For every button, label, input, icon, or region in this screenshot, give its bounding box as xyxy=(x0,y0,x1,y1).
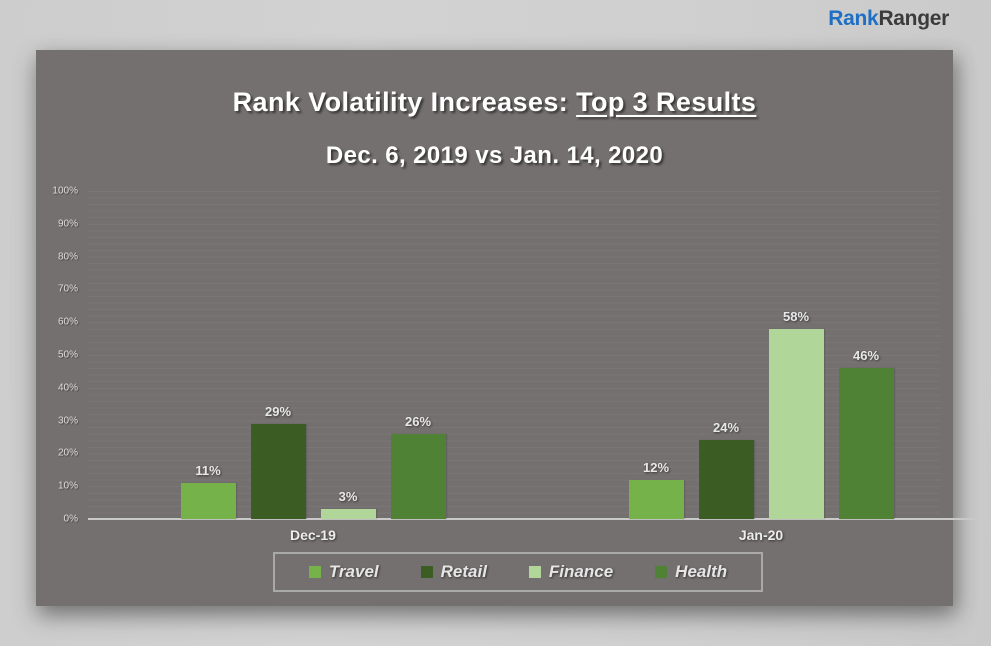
bar-health-dec-19[interactable]: 26% xyxy=(391,191,446,519)
bar-finance-jan-20[interactable]: 58% xyxy=(769,191,824,519)
legend-item-health[interactable]: Health xyxy=(655,562,727,582)
y-axis-tick-label: 100% xyxy=(52,186,78,197)
rankranger-logo: RankRanger xyxy=(828,7,949,31)
bar-value-label: 11% xyxy=(195,463,220,478)
bar-value-label: 12% xyxy=(643,460,669,475)
y-axis-tick-label: 30% xyxy=(58,415,78,426)
bar-rect xyxy=(699,440,754,519)
legend-label: Finance xyxy=(549,562,613,582)
y-axis-tick-label: 90% xyxy=(58,218,78,229)
legend-swatch-icon xyxy=(421,566,433,578)
legend-label: Health xyxy=(675,562,727,582)
bar-rect xyxy=(321,509,376,519)
bar-value-label: 29% xyxy=(265,404,291,419)
legend-swatch-icon xyxy=(529,566,541,578)
y-axis-tick-label: 20% xyxy=(58,448,78,459)
logo-text-rank: Rank xyxy=(828,7,878,30)
legend-label: Travel xyxy=(329,562,379,582)
chart-title-main: Rank Volatility Increases: xyxy=(233,87,569,117)
bar-rect xyxy=(629,480,684,519)
bar-retail-dec-19[interactable]: 29% xyxy=(251,191,306,519)
bar-value-label: 46% xyxy=(853,348,879,363)
y-axis-tick-label: 0% xyxy=(64,514,78,525)
bar-value-label: 3% xyxy=(339,489,358,504)
bar-rect xyxy=(391,434,446,519)
bar-retail-jan-20[interactable]: 24% xyxy=(699,191,754,519)
bar-rect xyxy=(181,483,236,519)
y-axis-tick-label: 40% xyxy=(58,382,78,393)
chart-legend: TravelRetailFinanceHealth xyxy=(273,552,763,592)
legend-swatch-icon xyxy=(655,566,667,578)
bar-rect xyxy=(251,424,306,519)
bar-group-dec-19: 11%29%3%26% xyxy=(181,191,446,519)
bar-rect xyxy=(769,329,824,519)
y-axis-tick-label: 10% xyxy=(58,481,78,492)
legend-label: Retail xyxy=(441,562,487,582)
bar-travel-jan-20[interactable]: 12% xyxy=(629,191,684,519)
chart-title: Rank Volatility Increases: Top 3 Results xyxy=(36,87,953,118)
x-axis-category-label: Jan-20 xyxy=(739,527,783,543)
chart-title-emphasis: Top 3 Results xyxy=(576,87,756,117)
bar-travel-dec-19[interactable]: 11% xyxy=(181,191,236,519)
bar-value-label: 58% xyxy=(783,309,809,324)
y-axis-tick-label: 80% xyxy=(58,251,78,262)
legend-item-finance[interactable]: Finance xyxy=(529,562,613,582)
legend-item-travel[interactable]: Travel xyxy=(309,562,379,582)
bar-value-label: 24% xyxy=(713,420,739,435)
bar-group-jan-20: 12%24%58%46% xyxy=(629,191,894,519)
y-axis-tick-label: 70% xyxy=(58,284,78,295)
bar-health-jan-20[interactable]: 46% xyxy=(839,191,894,519)
x-axis-category-label: Dec-19 xyxy=(290,527,336,543)
bar-rect xyxy=(839,368,894,519)
chart-panel: Rank Volatility Increases: Top 3 Results… xyxy=(36,50,953,606)
y-axis-tick-label: 60% xyxy=(58,317,78,328)
legend-swatch-icon xyxy=(309,566,321,578)
bar-value-label: 26% xyxy=(405,414,431,429)
y-axis: 100%90%80%70%60%50%40%30%20%10%0% xyxy=(36,191,84,519)
bar-finance-dec-19[interactable]: 3% xyxy=(321,191,376,519)
logo-text-ranger: Ranger xyxy=(878,7,949,30)
legend-item-retail[interactable]: Retail xyxy=(421,562,487,582)
y-axis-tick-label: 50% xyxy=(58,350,78,361)
chart-subtitle: Dec. 6, 2019 vs Jan. 14, 2020 xyxy=(36,142,953,170)
